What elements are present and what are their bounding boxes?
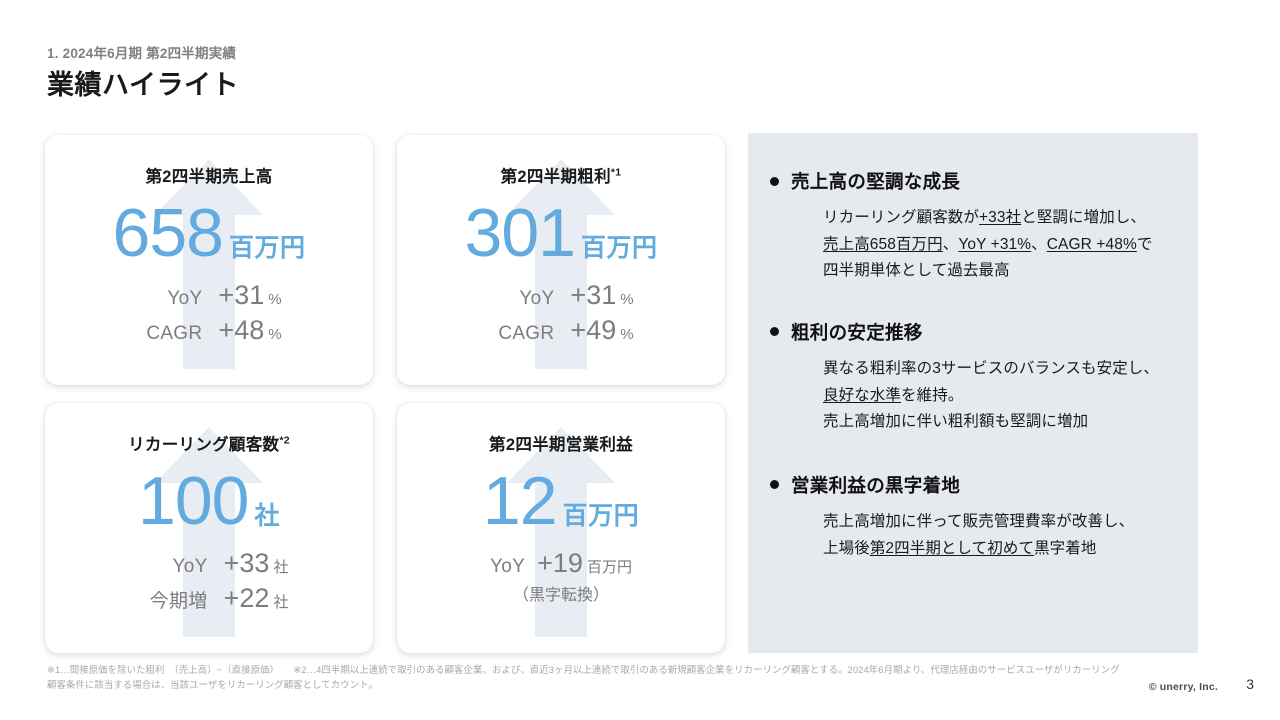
kpi-subrow: 今期増+22社	[130, 583, 289, 614]
commentary-heading: 売上高の堅調な成長	[770, 168, 1198, 194]
commentary-line: 売上高増加に伴い粗利額も堅調に増加	[823, 409, 1198, 436]
kpi-subrow-value: +22	[224, 583, 270, 614]
kpi-subrow-label: YoY	[488, 288, 554, 310]
kpi-card-title-text: リカーリング顧客数	[128, 436, 279, 454]
commentary-line: 良好な水準を維持。	[823, 383, 1198, 410]
footnote-line-2: 顧客条件に該当する場合は、当該ユーザをリカーリング顧客としてカウント。	[47, 678, 1207, 693]
kpi-subrow-unit: 社	[273, 556, 288, 577]
kpi-subrow-unit: %	[268, 291, 281, 308]
kpi-subrow: YoY+31%	[136, 280, 281, 311]
commentary-line: 上場後第2四半期として初めて黒字着地	[823, 536, 1198, 563]
kpi-subrow-value: +31	[218, 280, 264, 311]
highlighted-text: YoY +31%	[958, 236, 1031, 253]
footnote-line-1: ※1…間接原価を除いた粗利 （売上高）−（直接原価） ※2…4四半期以上連続で取…	[47, 663, 1207, 678]
kpi-value-unit: 百万円	[581, 228, 658, 264]
commentary-heading: 粗利の安定推移	[770, 319, 1198, 345]
kpi-subrow-value: +33	[224, 548, 270, 579]
body-text: 売上高増加に伴い粗利額も堅調に増加	[823, 413, 1088, 430]
kpi-note: （黒字転換）	[513, 581, 609, 605]
page-number: 3	[1246, 676, 1254, 692]
body-text: 上場後	[823, 540, 870, 557]
kpi-subrows: YoY+19百万円	[490, 548, 632, 579]
kpi-card-title: リカーリング顧客数*2	[128, 431, 290, 455]
commentary-heading-text: 粗利の安定推移	[791, 319, 923, 345]
kpi-value-unit: 百万円	[563, 496, 640, 532]
body-text: 異なる粗利率の3サービスのバランスも安定し、	[823, 360, 1159, 377]
kpi-value-unit: 百万円	[229, 228, 306, 264]
kpi-subrow-value: +31	[570, 280, 616, 311]
body-text: リカーリング顧客数が	[823, 209, 979, 226]
kpi-subrow-label: CAGR	[136, 323, 202, 345]
commentary-heading-text: 売上高の堅調な成長	[791, 168, 960, 194]
highlighted-text: CAGR +48%	[1047, 236, 1137, 253]
kpi-subrow-label: YoY	[130, 556, 208, 578]
commentary-line: 売上高増加に伴って販売管理費率が改善し、	[823, 509, 1198, 536]
highlighted-text: +33社	[979, 209, 1021, 226]
kpi-card-title-text: 第2四半期粗利	[501, 168, 611, 186]
kpi-subrow-label: YoY	[136, 288, 202, 310]
kpi-title-footnote-marker: *1	[611, 167, 622, 179]
body-text: 黒字着地	[1034, 540, 1096, 557]
kpi-value-row: 100社	[138, 467, 280, 535]
commentary-bullet: 営業利益の黒字着地売上高増加に伴って販売管理費率が改善し、上場後第2四半期として…	[770, 472, 1198, 562]
kpi-card-title-text: 第2四半期営業利益	[489, 436, 633, 454]
slide-header: 1. 2024年6月期 第2四半期実績 業績ハイライト	[47, 46, 747, 101]
kpi-value-row: 658百万円	[113, 199, 306, 267]
highlighted-text: 売上高658百万円	[823, 236, 943, 253]
kpi-card-gross: 第2四半期粗利*1301百万円YoY+31%CAGR+49%	[397, 135, 725, 385]
kpi-value-row: 12百万円	[483, 467, 639, 535]
kpi-card-title-text: 第2四半期売上高	[145, 168, 272, 186]
commentary-body: 売上高増加に伴って販売管理費率が改善し、上場後第2四半期として初めて黒字着地	[823, 509, 1198, 562]
kpi-subrow: YoY+33社	[130, 548, 289, 579]
kpi-subrow: YoY+19百万円	[490, 548, 632, 579]
commentary-panel: 売上高の堅調な成長リカーリング顧客数が+33社と堅調に増加し、売上高658百万円…	[748, 133, 1198, 653]
kpi-value: 301	[465, 199, 575, 267]
kpi-title-footnote-marker: *2	[279, 435, 290, 447]
kpi-subrows: YoY+31%CAGR+48%	[136, 280, 281, 346]
commentary-heading-text: 営業利益の黒字着地	[791, 472, 960, 498]
kpi-card-profit: 第2四半期営業利益12百万円YoY+19百万円（黒字転換）	[397, 403, 725, 653]
highlighted-text: 第2四半期として初めて	[870, 540, 1034, 557]
kpi-subrow: CAGR+49%	[488, 315, 633, 346]
kpi-subrow-unit: %	[268, 326, 281, 343]
kpi-subrow-value: +19	[537, 548, 583, 579]
bullet-dot-icon	[770, 327, 779, 336]
kpi-subrow-label: 今期増	[130, 586, 208, 613]
body-text: 、	[943, 236, 959, 253]
commentary-line: 異なる粗利率の3サービスのバランスも安定し、	[823, 356, 1198, 383]
body-text: を維持。	[901, 387, 963, 404]
bullet-dot-icon	[770, 177, 779, 186]
kpi-card-grid: 第2四半期売上高658百万円YoY+31%CAGR+48%第2四半期粗利*130…	[45, 135, 725, 653]
kpi-value: 658	[113, 199, 223, 267]
kpi-card-customers: リカーリング顧客数*2100社YoY+33社今期増+22社	[45, 403, 373, 653]
kpi-subrow-unit: 百万円	[587, 556, 632, 577]
kpi-value-row: 301百万円	[465, 199, 658, 267]
kpi-subrows: YoY+31%CAGR+49%	[488, 280, 633, 346]
kpi-card-sales: 第2四半期売上高658百万円YoY+31%CAGR+48%	[45, 135, 373, 385]
commentary-line: 売上高658百万円、YoY +31%、CAGR +48%で	[823, 232, 1198, 259]
body-text: と堅調に増加し、	[1021, 209, 1146, 226]
bullet-dot-icon	[770, 480, 779, 489]
kpi-subrow-value: +48	[218, 315, 264, 346]
kpi-subrow-label: YoY	[490, 556, 525, 578]
commentary-line: リカーリング顧客数が+33社と堅調に増加し、	[823, 205, 1198, 232]
kpi-subrow-unit: 社	[273, 591, 288, 612]
commentary-heading: 営業利益の黒字着地	[770, 472, 1198, 498]
page-title: 業績ハイライト	[47, 71, 747, 101]
kpi-value: 12	[483, 467, 557, 535]
copyright-notice: © unerry, Inc.	[1149, 681, 1218, 693]
section-eyebrow: 1. 2024年6月期 第2四半期実績	[47, 46, 747, 62]
body-text: 、	[1031, 236, 1047, 253]
commentary-body: リカーリング顧客数が+33社と堅調に増加し、売上高658百万円、YoY +31%…	[823, 205, 1198, 285]
body-text: で	[1137, 236, 1153, 253]
commentary-bullet: 売上高の堅調な成長リカーリング顧客数が+33社と堅調に増加し、売上高658百万円…	[770, 168, 1198, 285]
commentary-body: 異なる粗利率の3サービスのバランスも安定し、良好な水準を維持。売上高増加に伴い粗…	[823, 356, 1198, 436]
kpi-card-title: 第2四半期売上高	[145, 163, 272, 187]
kpi-value-unit: 社	[254, 496, 280, 532]
kpi-subrow-unit: %	[620, 291, 633, 308]
kpi-card-title: 第2四半期営業利益	[489, 431, 633, 455]
kpi-subrows: YoY+33社今期増+22社	[130, 548, 289, 614]
commentary-bullet: 粗利の安定推移異なる粗利率の3サービスのバランスも安定し、良好な水準を維持。売上…	[770, 319, 1198, 436]
kpi-subrow-value: +49	[570, 315, 616, 346]
body-text: 売上高増加に伴って販売管理費率が改善し、	[823, 513, 1134, 530]
body-text: 四半期単体として過去最高	[823, 262, 1010, 279]
kpi-subrow-label: CAGR	[488, 323, 554, 345]
kpi-subrow: CAGR+48%	[136, 315, 281, 346]
kpi-subrow: YoY+31%	[488, 280, 633, 311]
kpi-subrow-unit: %	[620, 326, 633, 343]
highlighted-text: 良好な水準	[823, 387, 901, 404]
kpi-value: 100	[138, 467, 248, 535]
commentary-line: 四半期単体として過去最高	[823, 258, 1198, 285]
kpi-card-title: 第2四半期粗利*1	[501, 163, 622, 187]
footnotes: ※1…間接原価を除いた粗利 （売上高）−（直接原価） ※2…4四半期以上連続で取…	[47, 663, 1207, 692]
